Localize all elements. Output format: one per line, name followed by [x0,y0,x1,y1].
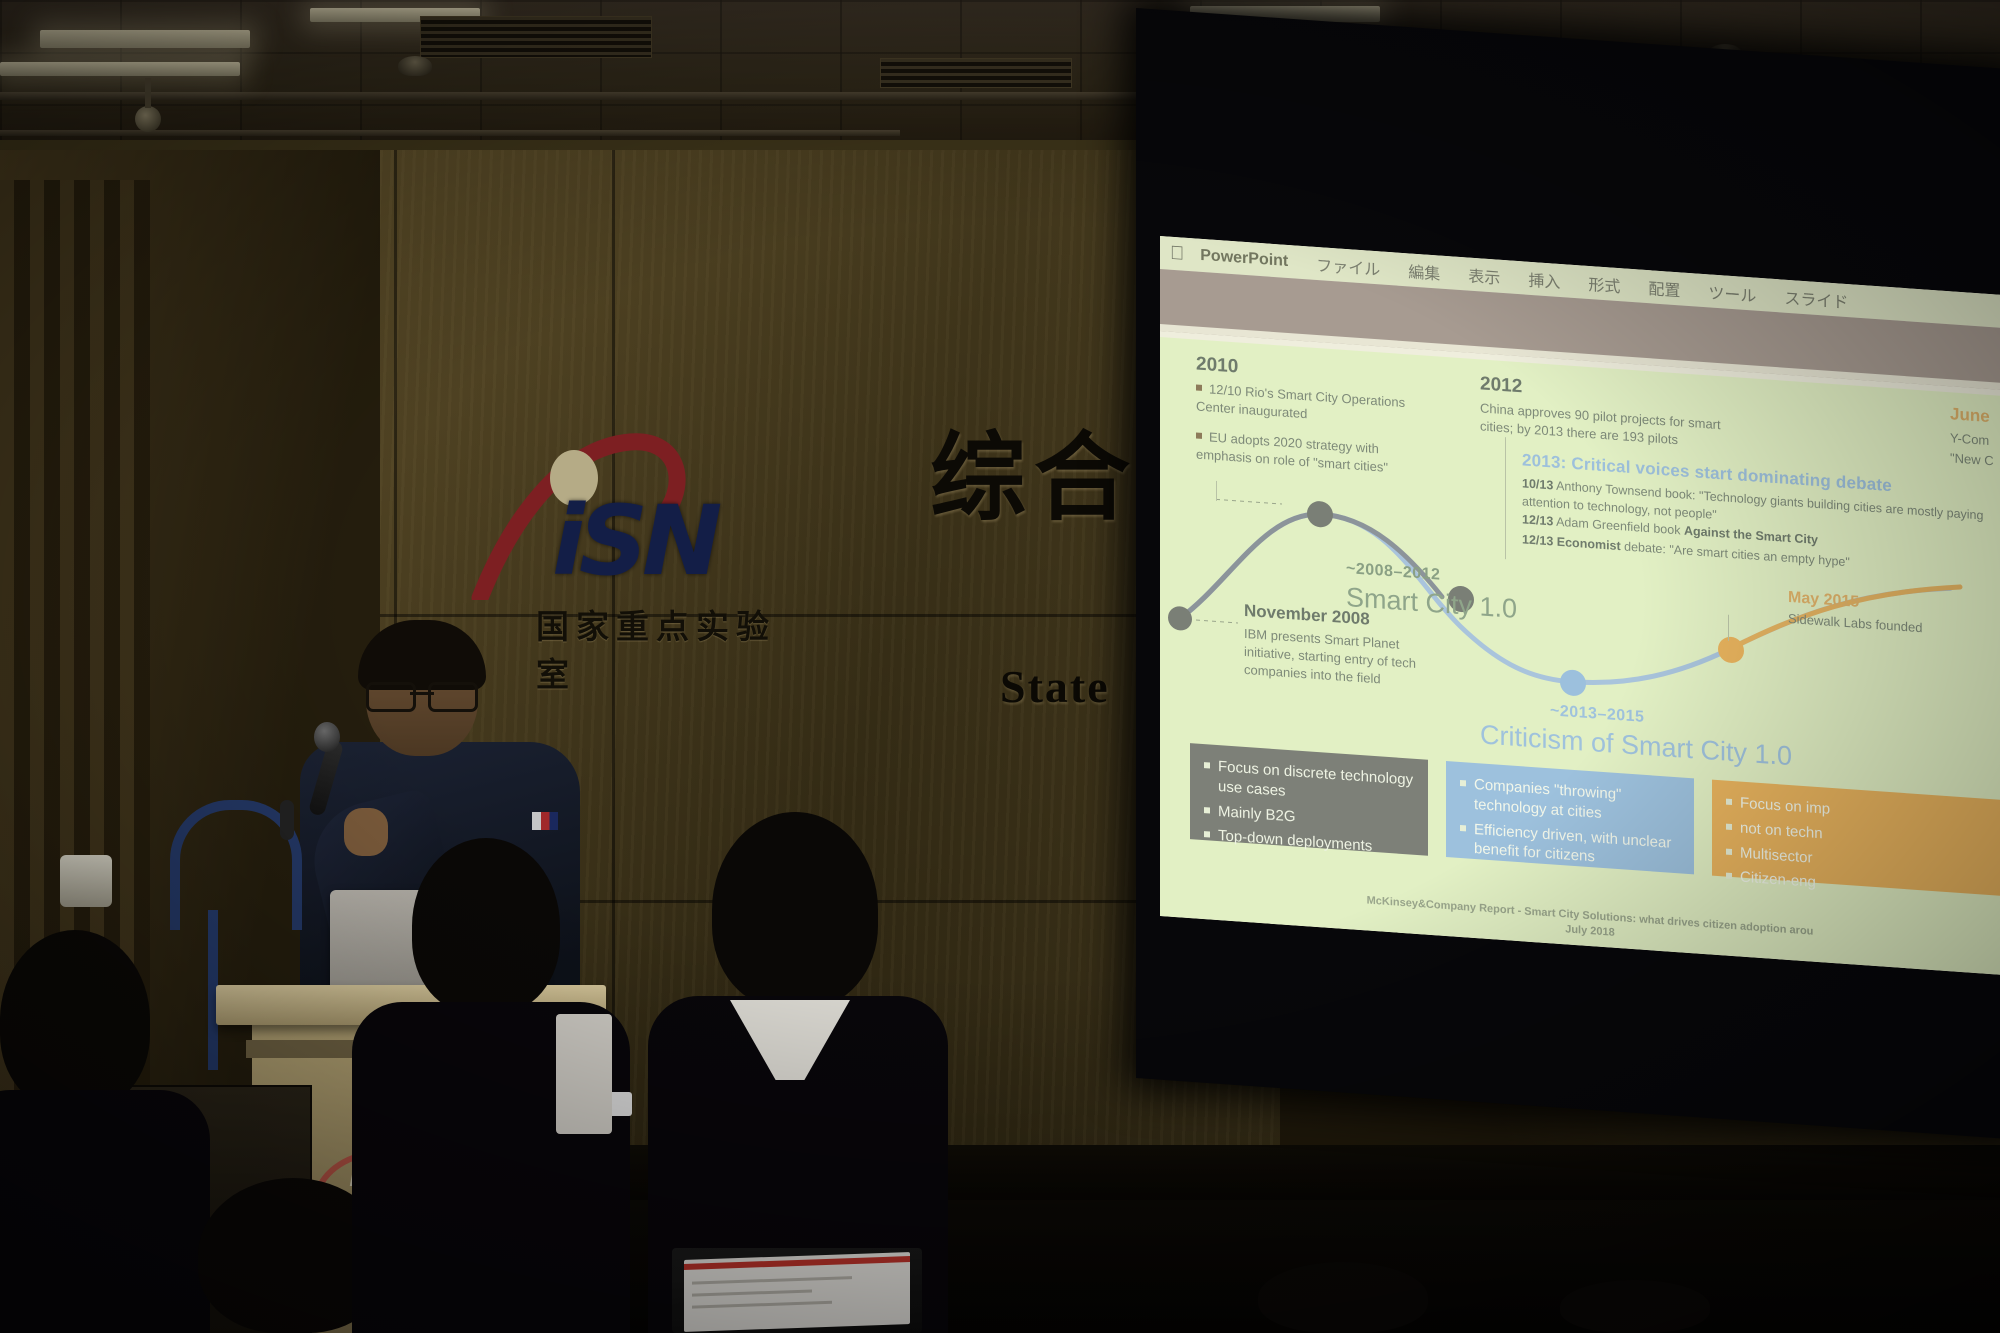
microphone-head-icon [314,722,340,752]
summary-box-3-list: Focus on imp not on techn Multisector Ci… [1726,793,1998,906]
browser-accent-bar [684,1256,910,1270]
conference-room-photo: iSN 国家重点实验室 综合 State  PowerPoint ファイル 編… [0,0,2000,1333]
sleeve-flag-patch [532,812,558,830]
eyeglasses-icon [366,682,478,706]
audience-shirt [556,1014,612,1134]
content-line [692,1289,812,1296]
summary-box-2: Companies "throwing" technology at citie… [1446,761,1694,874]
audience-laptop-screen[interactable] [684,1252,910,1332]
menu-item-file[interactable]: ファイル [1316,251,1380,279]
projection-screen[interactable]:  PowerPoint ファイル 編集 表示 挿入 形式 配置 ツール スライ… [1160,236,2000,976]
water-cup [60,855,112,907]
presenter-hair [358,620,486,690]
wall-sign-chinese: 综合 [930,400,1138,539]
menu-item-arrange[interactable]: 配置 [1648,275,1680,301]
menu-item-edit[interactable]: 編集 [1408,258,1440,284]
powerpoint-window[interactable]:  PowerPoint ファイル 編集 表示 挿入 形式 配置 ツール スライ… [1160,236,2000,976]
ceiling-speaker-icon [398,56,432,76]
audience-head [1258,1262,1428,1333]
gooseneck-microphone [170,800,290,980]
apple-menu-icon[interactable]:  [1170,244,1184,264]
menu-item-slideshow[interactable]: スライド [1784,284,1848,312]
audience-head [0,930,150,1110]
wall-sign-english: State [1000,660,1110,713]
menu-item-insert[interactable]: 挿入 [1528,266,1560,292]
summary-box-1-list: Focus on discrete technology use cases M… [1204,756,1414,860]
logo-wordmark: iSN [552,485,716,597]
summary-box-2-list: Companies "throwing" technology at citie… [1460,774,1680,874]
summary-box-1: Focus on discrete technology use cases M… [1190,743,1428,856]
content-line [692,1276,852,1285]
menu-item-tools[interactable]: ツール [1708,279,1756,306]
menu-item-powerpoint[interactable]: PowerPoint [1200,246,1288,270]
content-line [692,1301,832,1309]
audience-head [1560,1280,1710,1333]
ceiling-air-vent [420,16,652,58]
menu-item-view[interactable]: 表示 [1468,262,1500,288]
menu-item-format[interactable]: 形式 [1588,270,1620,296]
ceiling-light-panel [0,62,240,76]
ceiling-beam [0,130,900,136]
audience-head [712,812,878,1008]
presenter-hand [344,808,388,856]
ceiling-air-vent [880,58,1072,88]
leader-line-vertical [1728,615,1729,641]
smoke-detector-icon [135,106,161,132]
summary-box-3: Focus on imp not on techn Multisector Ci… [1712,780,2000,897]
podium-microphone [280,800,294,840]
audience-head [412,838,560,1014]
audience-shoulders [0,1090,210,1333]
ceiling-light-panel [40,30,250,48]
slide-canvas: 2010 12/10 Rio's Smart City Operations C… [1160,337,2000,976]
